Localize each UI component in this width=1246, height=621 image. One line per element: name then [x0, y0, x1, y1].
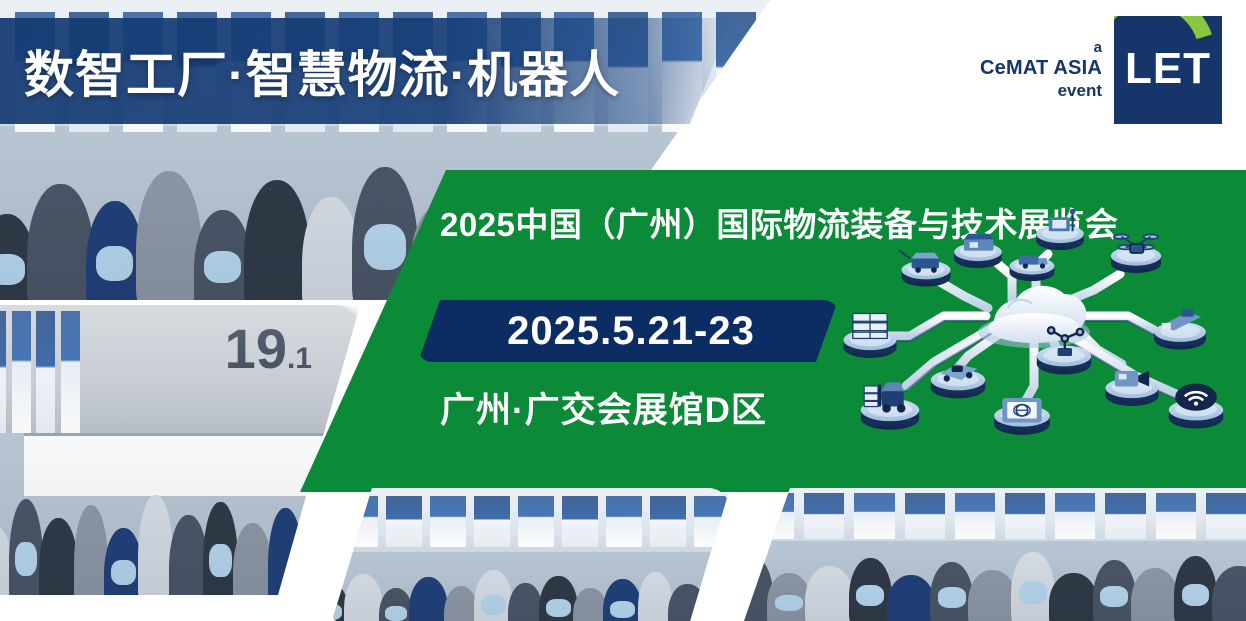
- headline-bar: 数智工厂·智慧物流·机器人: [0, 18, 732, 124]
- camera-icon: [1105, 371, 1158, 406]
- photo-overlay-center: [330, 488, 730, 621]
- drone-icon: [1111, 235, 1161, 273]
- green-info-panel: 2025中国（广州）国际物流装备与技术展览会 2025.5.21-23 广州·广…: [300, 170, 1246, 492]
- date-text: 2025.5.21-23: [501, 309, 755, 354]
- scanner-station-icon: [1036, 209, 1084, 250]
- photo-exhibition-crowd-right: [744, 488, 1246, 621]
- promo-banner: 数智工厂·智慧物流·机器人 a CeMAT ASIA event LET 19.…: [0, 0, 1246, 621]
- conveyor-icon: [954, 234, 1002, 268]
- agv-cart-icon: [899, 250, 951, 287]
- logo-caption: a CeMAT ASIA event: [980, 39, 1102, 100]
- let-logo-icon: LET: [1114, 16, 1222, 124]
- date-badge: 2025.5.21-23: [418, 300, 838, 362]
- photo-overlay-left: [0, 305, 360, 595]
- sorting-machine-icon: [1154, 309, 1206, 349]
- tablet-globe-icon: [994, 398, 1050, 435]
- logo-caption-event: event: [980, 81, 1102, 101]
- forklift-icon: [861, 382, 919, 429]
- venue-text: 广州·广交会展馆D区: [440, 382, 767, 433]
- photo-overlay-right: [744, 488, 1246, 621]
- logo-caption-a: a: [980, 39, 1102, 57]
- photo-exhibition-hall-left: 19.1: [0, 305, 360, 595]
- photo-exhibition-crowd-center: [330, 488, 730, 621]
- amr-robot-icon: [931, 364, 985, 398]
- let-logo-wordmark: LET: [1114, 44, 1222, 94]
- let-logo-block: a CeMAT ASIA event LET: [980, 16, 1222, 124]
- logistics-network-illustration: [836, 204, 1236, 454]
- pallet-rack-icon: [843, 313, 896, 357]
- page-title: 数智工厂·智慧物流·机器人: [0, 35, 620, 107]
- logo-caption-main: CeMAT ASIA: [980, 57, 1102, 81]
